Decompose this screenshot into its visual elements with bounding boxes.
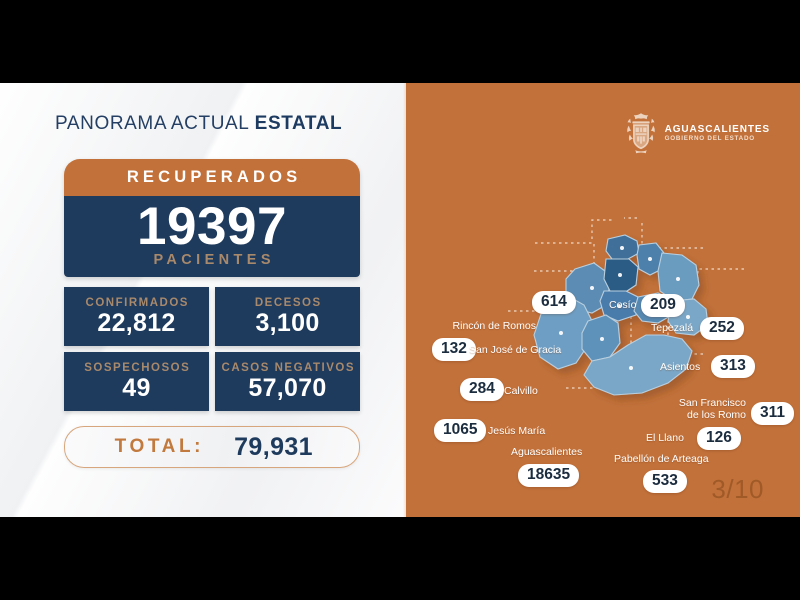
maplabel-san-francisco-de-los-romo: San Franciscode los Romo [650, 397, 746, 422]
maplabel-el-llano: El Llano [646, 432, 684, 444]
pill-aguascalientes: 18635 [518, 464, 579, 487]
stat-card-confirmados: CONFIRMADOS 22,812 [64, 287, 209, 346]
aguascalientes-map [406, 83, 800, 517]
pill-cosio: 209 [641, 294, 685, 317]
pill-calvillo: 284 [460, 378, 504, 401]
letterbox-top-bar [0, 0, 800, 83]
recuperados-value: 19397 [64, 200, 360, 254]
total-value: 79,931 [234, 433, 313, 462]
recuperados-header: RECUPERADOS [64, 159, 360, 196]
slide-stage: PANORAMA ACTUAL ESTATAL RECUPERADOS 1939… [0, 0, 800, 600]
stat-label: CONFIRMADOS [84, 297, 189, 309]
maplabel-calvillo: Calvillo [504, 385, 538, 397]
maplabel-aguascalientes: Aguascalientes [511, 446, 582, 458]
stat-label: SOSPECHOSOS [83, 362, 190, 374]
pill-jesus-maria: 1065 [434, 419, 486, 442]
stat-label: CASOS NEGATIVOS [220, 362, 355, 374]
recuperados-card: RECUPERADOS 19397 PACIENTES [64, 159, 360, 277]
page-title: PANORAMA ACTUAL ESTATAL [55, 113, 342, 135]
pill-pabellon-de-arteaga: 533 [643, 470, 687, 493]
infographic-slide: PANORAMA ACTUAL ESTATAL RECUPERADOS 1939… [0, 83, 800, 517]
map-svg [406, 83, 800, 517]
maplabel-tepezala: Tepezalá [651, 322, 693, 334]
stat-value: 3,100 [255, 310, 319, 336]
recuperados-label: RECUPERADOS [123, 168, 302, 187]
maplabel-asientos: Asientos [660, 361, 700, 373]
pill-el-llano: 126 [697, 427, 741, 450]
page-indicator: 3/10 [711, 474, 764, 505]
stat-value: 49 [122, 375, 150, 401]
maplabel-jesus-maria: Jesús María [488, 425, 545, 437]
stat-label: DECESOS [253, 297, 321, 309]
letterbox-bottom-bar [0, 517, 800, 600]
pill-tepezala: 252 [700, 317, 744, 340]
map-panel: AGUASCALIENTES GOBIERNO DEL ESTADO [406, 83, 800, 517]
pill-rincon-de-romos: 614 [532, 291, 576, 314]
pill-san-francisco-de-los-romo: 311 [751, 402, 794, 425]
maplabel-cosio: Cosío [609, 299, 636, 311]
total-label: TOTAL: [111, 436, 204, 458]
pill-asientos: 313 [711, 355, 755, 378]
stat-value: 57,070 [248, 375, 326, 401]
maplabel-san-jose-de-gracia: San José de Gracia [469, 344, 561, 356]
recuperados-subtitle: PACIENTES [64, 252, 360, 268]
page-title-bold: ESTATAL [255, 113, 343, 134]
stat-card-sospechosos: SOSPECHOSOS 49 [64, 352, 209, 411]
maplabel-rincon-de-romos: Rincón de Romos [416, 320, 536, 332]
maplabel-pabellon-de-arteaga: Pabellón de Arteaga [614, 453, 709, 465]
stat-value: 22,812 [97, 310, 175, 336]
stat-card-decesos: DECESOS 3,100 [215, 287, 360, 346]
total-bar: TOTAL: 79,931 [64, 426, 360, 468]
stat-card-casos-negativos: CASOS NEGATIVOS 57,070 [215, 352, 360, 411]
page-title-regular: PANORAMA ACTUAL [55, 113, 249, 134]
stats-panel: PANORAMA ACTUAL ESTATAL RECUPERADOS 1939… [0, 83, 406, 517]
recuperados-body: 19397 PACIENTES [64, 196, 360, 277]
stats-grid: CONFIRMADOS 22,812 DECESOS 3,100 SOSPECH… [64, 287, 360, 411]
